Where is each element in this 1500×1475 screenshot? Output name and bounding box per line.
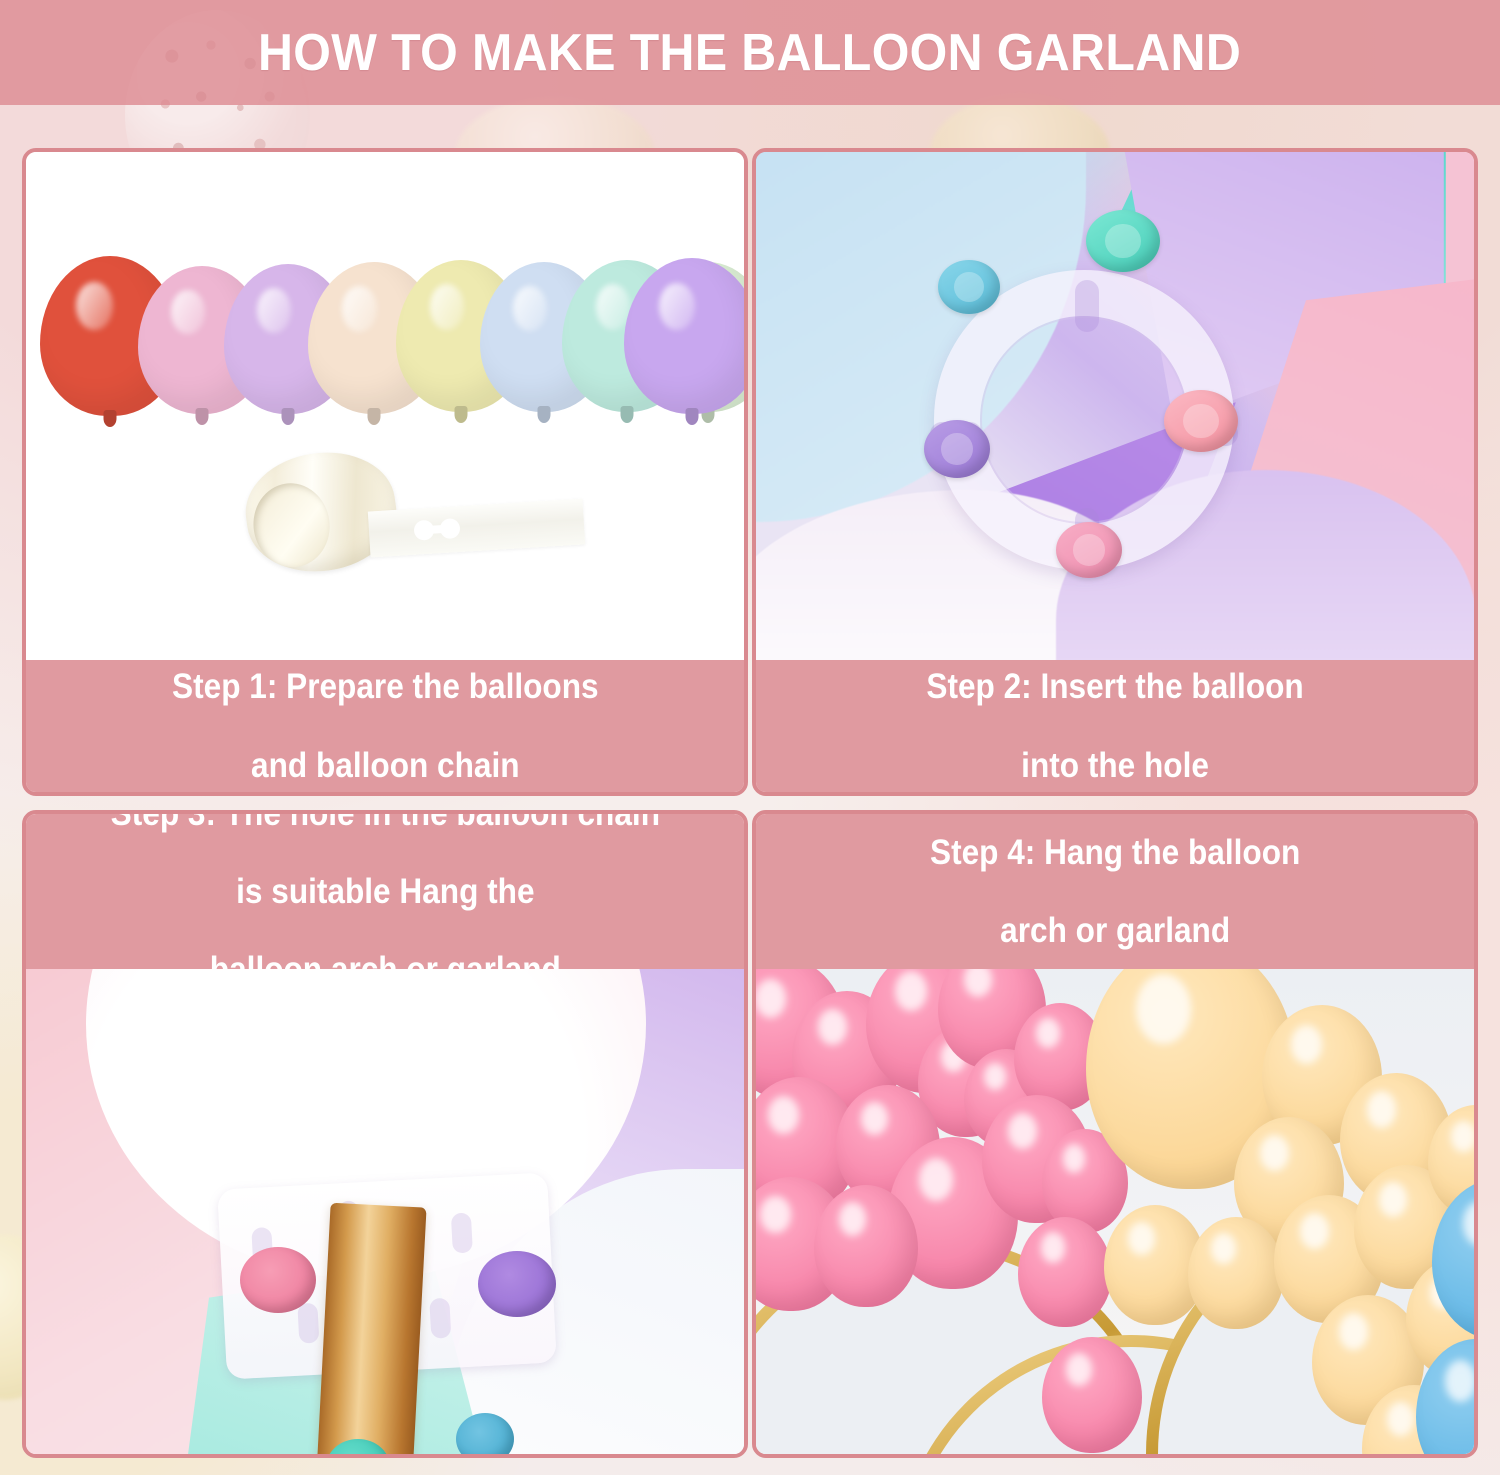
balloon-neck-lilac bbox=[924, 420, 990, 478]
step-card-1[interactable]: Step 1: Prepare the balloons and balloon… bbox=[22, 148, 748, 796]
step-2-caption-line-2: into the hole bbox=[926, 746, 1303, 785]
balloon-chain-strip bbox=[368, 498, 585, 557]
steps-grid: Step 1: Prepare the balloons and balloon… bbox=[22, 148, 1478, 1458]
page-title: HOW TO MAKE THE BALLOON GARLAND bbox=[258, 23, 1241, 83]
gold-pole bbox=[313, 1203, 426, 1454]
balloon-row bbox=[26, 244, 744, 454]
step-3-photo bbox=[26, 969, 744, 1454]
step-2-caption: Step 2: Insert the balloon into the hole bbox=[756, 660, 1474, 792]
balloon-neck-mint bbox=[1086, 210, 1160, 272]
step-card-4[interactable]: Step 4: Hang the balloon arch or garland bbox=[752, 810, 1478, 1458]
step-4-caption-line-2: arch or garland bbox=[930, 911, 1300, 950]
balloon-neck-rose bbox=[1056, 522, 1122, 578]
garland-balloon-yellow bbox=[1188, 1217, 1284, 1329]
step-1-caption-line-2: and balloon chain bbox=[172, 746, 599, 785]
garland-balloon-pink bbox=[814, 1185, 918, 1307]
step-4-photo bbox=[756, 969, 1474, 1454]
step-4-caption: Step 4: Hang the balloon arch or garland bbox=[756, 814, 1474, 969]
step-2-photo bbox=[756, 152, 1474, 660]
step-3-caption-line-2: is suitable Hang the bbox=[110, 872, 659, 911]
step-4-caption-line-1: Step 4: Hang the balloon bbox=[930, 833, 1300, 872]
tape-and-chain-group bbox=[226, 447, 586, 597]
step-3-caption: Step 3: The hole in the balloon chain is… bbox=[26, 814, 744, 969]
disc-slot bbox=[1075, 280, 1099, 332]
step-card-3[interactable]: Step 3: The hole in the balloon chain is… bbox=[22, 810, 748, 1458]
step-1-caption: Step 1: Prepare the balloons and balloon… bbox=[26, 660, 744, 792]
chain-strip-hole-icon bbox=[413, 518, 460, 541]
balloon-neck-pink bbox=[240, 1247, 316, 1313]
tape-roll-core bbox=[248, 478, 335, 572]
step-3-caption-line-1: Step 3: The hole in the balloon chain bbox=[110, 810, 659, 833]
step-2-caption-line-1: Step 2: Insert the balloon bbox=[926, 667, 1303, 706]
step-1-photo bbox=[26, 152, 744, 660]
step-1-caption-line-1: Step 1: Prepare the balloons bbox=[172, 667, 599, 706]
balloon-neck-pink bbox=[1164, 390, 1238, 452]
step-card-2[interactable]: Step 2: Insert the balloon into the hole bbox=[752, 148, 1478, 796]
garland-balloon-pink bbox=[1042, 1337, 1142, 1453]
balloon-neck-blue bbox=[938, 260, 1000, 314]
header-banner: HOW TO MAKE THE BALLOON GARLAND bbox=[0, 0, 1500, 105]
balloon-neck-purple bbox=[478, 1251, 556, 1317]
garland-balloon-pink bbox=[1018, 1217, 1112, 1327]
